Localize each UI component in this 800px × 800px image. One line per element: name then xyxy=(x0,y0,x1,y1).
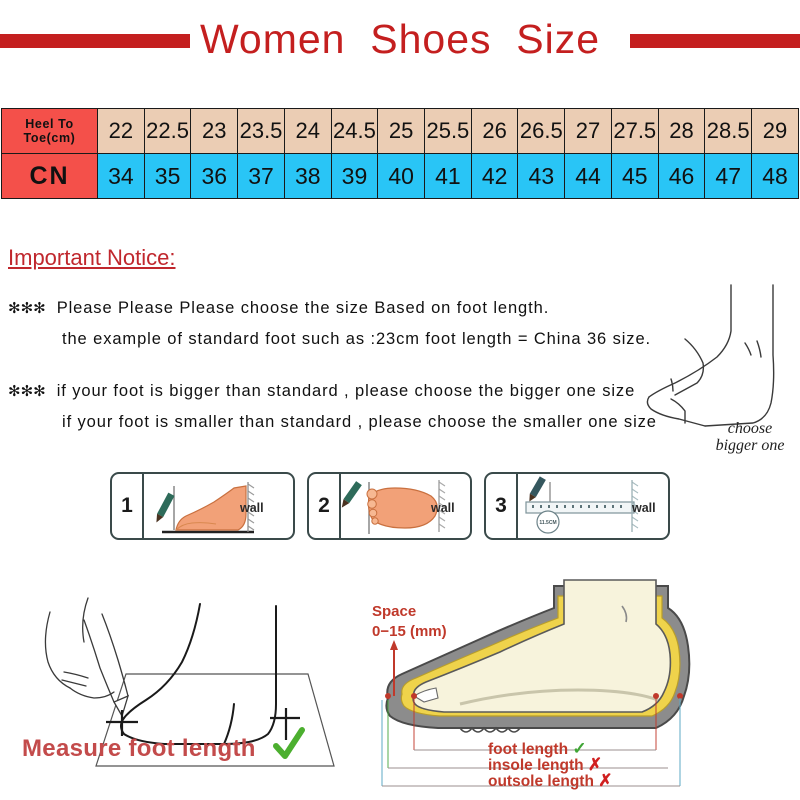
cell-cm-7: 25.5 xyxy=(425,109,472,154)
cell-cm-1: 22.5 xyxy=(144,109,191,154)
step-number-1: 1 xyxy=(112,474,144,538)
cell-cn-0: 34 xyxy=(98,154,145,199)
cell-cn-6: 40 xyxy=(378,154,425,199)
dimension-label-outsole-length: outsole length ✗ xyxy=(488,771,612,791)
outsole-length-cross-icon: ✗ xyxy=(598,771,612,790)
cell-cm-10: 27 xyxy=(565,109,612,154)
step-3-ruler-badge: 11.5CM xyxy=(539,520,556,526)
cell-cn-13: 47 xyxy=(705,154,752,199)
size-conversion-table: Heel To Toe(cm) 22 22.5 23 23.5 24 24.5 … xyxy=(1,108,799,199)
cell-cn-8: 42 xyxy=(471,154,518,199)
measure-foot-length-illustration xyxy=(18,576,363,796)
cell-cm-2: 23 xyxy=(191,109,238,154)
step-3-wall-label: wall xyxy=(632,501,656,515)
foot-sketch-caption-line2: bigger one xyxy=(690,437,800,454)
cell-cn-4: 38 xyxy=(284,154,331,199)
cell-cn-12: 46 xyxy=(658,154,705,199)
step-panel-3: 3 11.5CM xyxy=(484,472,670,540)
notice-text-1: Please Please Please choose the size Bas… xyxy=(57,299,550,317)
step-1-wall-label: wall xyxy=(240,501,264,515)
cell-cn-14: 48 xyxy=(752,154,799,199)
cell-cm-5: 24.5 xyxy=(331,109,378,154)
cell-cn-1: 35 xyxy=(144,154,191,199)
cell-cn-9: 43 xyxy=(518,154,565,199)
table-row-heel-to-toe: Heel To Toe(cm) 22 22.5 23 23.5 24 24.5 … xyxy=(2,109,799,154)
table-row-cn: CN 34 35 36 37 38 39 40 41 42 43 44 45 4… xyxy=(2,154,799,199)
step-panel-2: 2 xyxy=(307,472,472,540)
cell-cm-8: 26 xyxy=(471,109,518,154)
notice-title: Important Notice: xyxy=(8,245,798,271)
cell-cn-5: 39 xyxy=(331,154,378,199)
page-header: Women Shoes Size xyxy=(0,0,800,86)
foot-sketch-caption-line1: choose xyxy=(690,420,800,437)
cell-cm-4: 24 xyxy=(284,109,331,154)
row-label-cn: CN xyxy=(2,154,98,199)
space-label-line1: Space xyxy=(372,602,447,622)
step-2-wall-label: wall xyxy=(431,501,455,515)
measure-foot-length-caption: Measure foot length xyxy=(22,735,256,763)
notice-stars-1: ✻✻✻ xyxy=(8,300,46,317)
cell-cm-6: 25 xyxy=(378,109,425,154)
step-number-3: 3 xyxy=(486,474,518,538)
cell-cm-13: 28.5 xyxy=(705,109,752,154)
cell-cm-12: 28 xyxy=(658,109,705,154)
dimension-outsole-length-text: outsole length xyxy=(488,773,594,790)
notice-text-3: if your foot is bigger than standard , p… xyxy=(57,382,635,400)
foot-sketch-caption: choose bigger one xyxy=(690,420,800,454)
step-panel-1: 1 xyxy=(110,472,295,540)
space-label-line2: 0−15 (mm) xyxy=(372,622,447,642)
page-title: Women Shoes Size xyxy=(0,16,800,63)
cell-cm-3: 23.5 xyxy=(238,109,285,154)
cell-cm-0: 22 xyxy=(98,109,145,154)
cell-cm-14: 29 xyxy=(752,109,799,154)
cell-cm-11: 27.5 xyxy=(611,109,658,154)
step-number-2: 2 xyxy=(309,474,341,538)
cell-cn-7: 41 xyxy=(425,154,472,199)
measurement-steps: 1 xyxy=(110,472,670,544)
cell-cn-2: 36 xyxy=(191,154,238,199)
cell-cn-3: 37 xyxy=(238,154,285,199)
notice-stars-2: ✻✻✻ xyxy=(8,383,46,400)
cell-cm-9: 26.5 xyxy=(518,109,565,154)
measure-check-icon xyxy=(272,726,306,764)
cell-cn-11: 45 xyxy=(611,154,658,199)
cell-cn-10: 44 xyxy=(565,154,612,199)
row-label-heel-to-toe: Heel To Toe(cm) xyxy=(2,109,98,154)
space-annotation: Space 0−15 (mm) xyxy=(372,602,447,642)
step-1-illustration xyxy=(142,474,293,538)
